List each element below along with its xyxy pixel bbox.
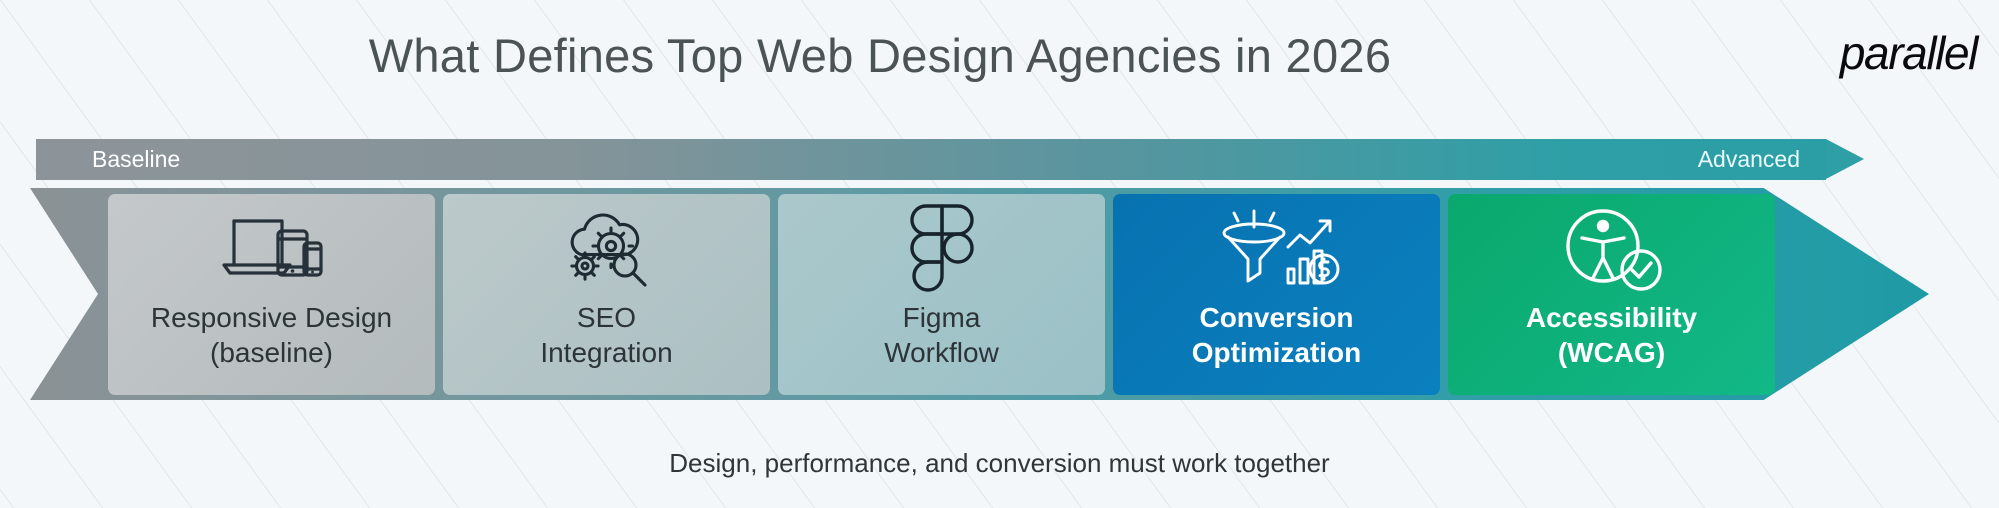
figma-logo-icon [778, 200, 1105, 300]
cloud-gears-search-icon [443, 200, 770, 300]
card-accessibility-wcag[interactable]: Accessibility (WCAG) [1448, 194, 1775, 395]
devices-responsive-icon [108, 200, 435, 300]
progress-strip-bar [36, 139, 1826, 180]
progress-strip-arrowhead [1826, 139, 1864, 179]
card-label-figma-workflow: Figma Workflow [778, 300, 1105, 371]
accessibility-check-icon [1448, 200, 1775, 300]
card-label-responsive-design: Responsive Design (baseline) [108, 300, 435, 371]
card-label-accessibility-wcag: Accessibility (WCAG) [1448, 300, 1775, 371]
funnel-chart-dollar-icon [1113, 200, 1440, 300]
footer-caption: Design, performance, and conversion must… [0, 448, 1999, 479]
card-conversion-optimization[interactable]: Conversion Optimization [1113, 194, 1440, 395]
parallel-logo: parallel [1840, 26, 1977, 80]
card-responsive-design[interactable]: Responsive Design (baseline) [108, 194, 435, 395]
progress-label-baseline: Baseline [92, 139, 180, 180]
card-figma-workflow[interactable]: Figma Workflow [778, 194, 1105, 395]
maturity-progress-strip: Baseline Advanced [36, 139, 1928, 180]
capability-card-row: Responsive Design (baseline) [108, 194, 1775, 395]
card-label-conversion-optimization: Conversion Optimization [1113, 300, 1440, 371]
card-label-seo-integration: SEO Integration [443, 300, 770, 371]
card-seo-integration[interactable]: SEO Integration [443, 194, 770, 395]
page-title: What Defines Top Web Design Agencies in … [0, 28, 1760, 83]
progress-label-advanced: Advanced [1698, 139, 1800, 180]
